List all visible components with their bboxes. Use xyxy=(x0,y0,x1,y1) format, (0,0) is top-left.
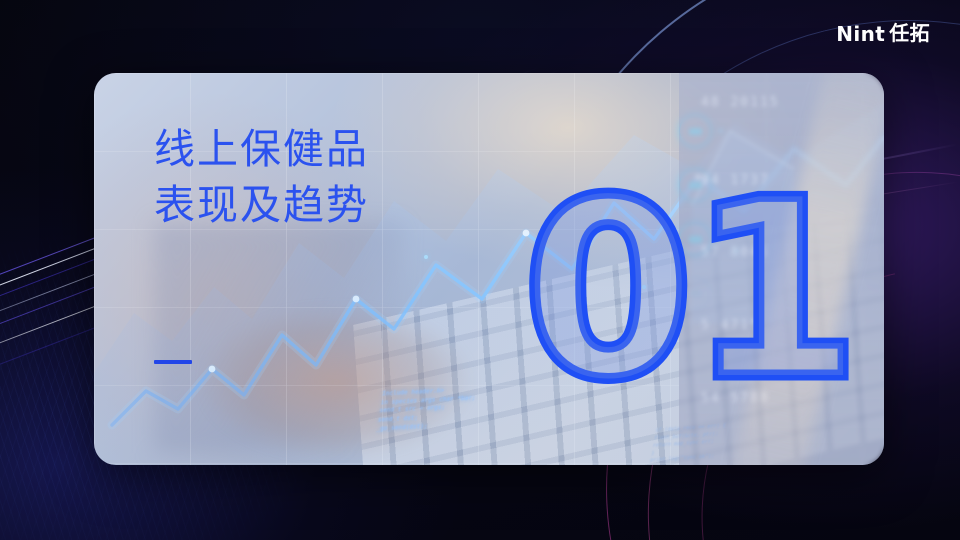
section-title-line-1: 线上保健品 xyxy=(154,122,369,178)
section-title-line-2: 表现及趋势 xyxy=(154,178,369,234)
section-number: 01 xyxy=(523,168,856,413)
accent-dot xyxy=(424,255,428,259)
section-title: 线上保健品 表现及趋势 xyxy=(154,122,369,234)
panel-row-value: 48 20115 xyxy=(701,95,780,110)
title-underline-rule xyxy=(154,360,192,364)
slide-root: Nint 任拓 xyxy=(0,0,960,540)
logo-cjk-text: 任拓 xyxy=(889,24,930,44)
nint-logo: Nint 任拓 xyxy=(836,24,930,44)
logo-latin-text: Nint xyxy=(836,24,885,44)
